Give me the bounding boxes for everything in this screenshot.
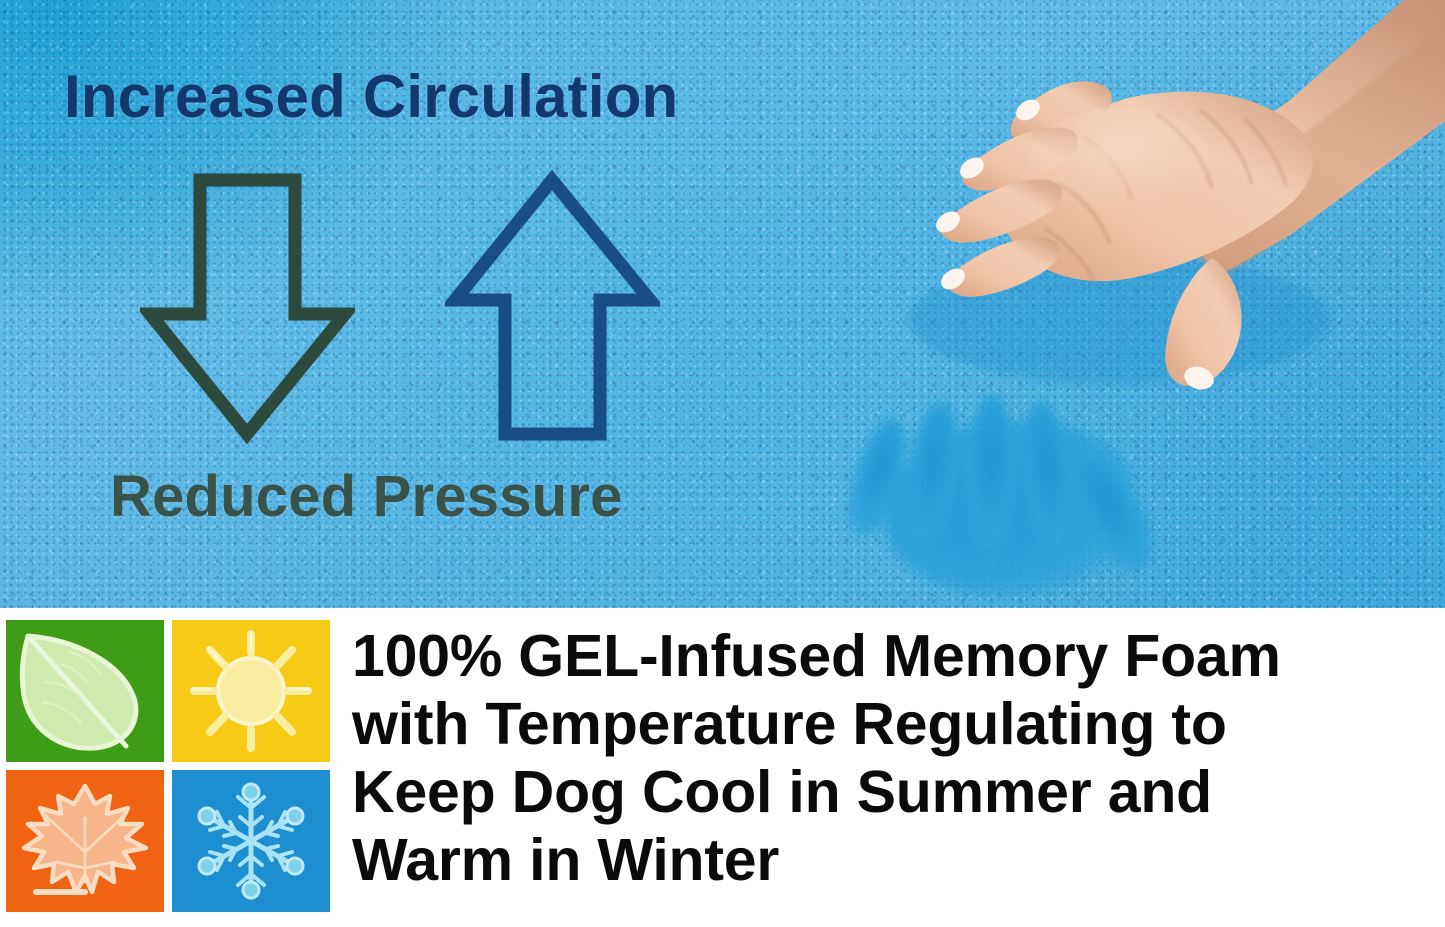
reduced-pressure-label: Reduced Pressure	[110, 463, 623, 530]
tile-winter	[172, 770, 330, 912]
product-infographic: Increased Circulation Reduced Pressure	[0, 0, 1445, 927]
leaf-icon	[6, 620, 164, 762]
tile-summer	[172, 620, 330, 762]
tile-spring	[6, 620, 164, 762]
maple-leaf-icon	[6, 770, 164, 912]
up-arrow-icon	[445, 170, 660, 442]
copy-line-1: 100% GEL-Infused Memory Foam	[352, 622, 1442, 690]
copy-line-2: with Temperature Regulating to	[352, 690, 1442, 758]
sun-icon	[172, 620, 330, 762]
season-tile-grid	[6, 620, 336, 918]
copy-line-4: Warm in Winter	[352, 826, 1442, 894]
gel-foam-photo: Increased Circulation Reduced Pressure	[0, 0, 1445, 608]
copy-line-3: Keep Dog Cool in Summer and	[352, 758, 1442, 826]
feature-band: 100% GEL-Infused Memory Foam with Temper…	[0, 608, 1445, 927]
tile-autumn	[6, 770, 164, 912]
down-arrow-icon	[140, 172, 355, 444]
marketing-copy: 100% GEL-Infused Memory Foam with Temper…	[352, 622, 1442, 894]
snowflake-icon	[172, 770, 330, 912]
increased-circulation-label: Increased Circulation	[64, 62, 678, 131]
